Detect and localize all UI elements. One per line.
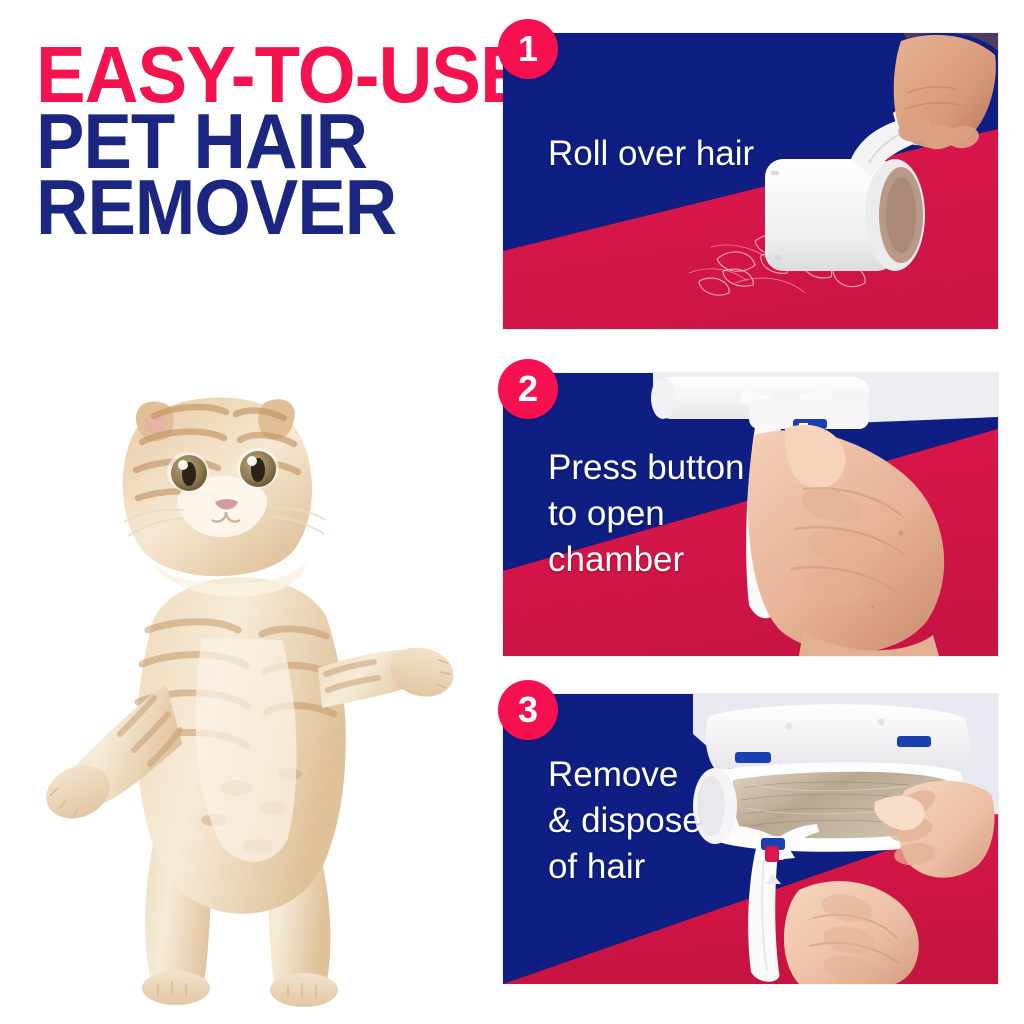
step-1-scene <box>503 33 998 329</box>
step-3-caption: Remove & dispose of hair <box>548 752 702 890</box>
step-panel-1: 1 Roll over hair <box>503 33 998 329</box>
step-2-badge: 2 <box>498 359 558 419</box>
hero-cat-image <box>26 368 466 1008</box>
step-1-caption: Roll over hair <box>548 131 754 177</box>
infographic-canvas: EASY-TO-USE PET HAIR REMOVER <box>0 0 1024 1024</box>
step-1-photo <box>503 33 998 329</box>
step-3-badge: 3 <box>498 680 558 740</box>
cat-illustration <box>26 368 466 1008</box>
step-1-badge: 1 <box>498 19 558 79</box>
headline-line-3: REMOVER <box>36 174 464 240</box>
step-2-caption: Press button to open chamber <box>548 445 745 583</box>
page-title: EASY-TO-USE PET HAIR REMOVER <box>36 42 496 240</box>
step-panel-3: 3 Remove & dispose of hair <box>503 694 998 984</box>
step-panel-2: 2 Press button to open chamber <box>503 373 998 656</box>
